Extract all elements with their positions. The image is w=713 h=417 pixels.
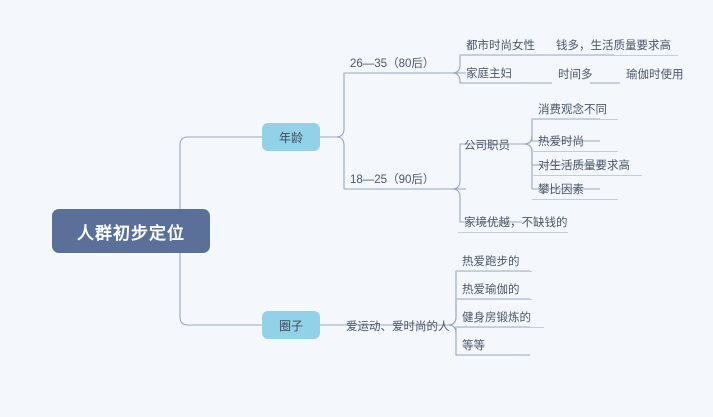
leaf-much-time-label: 时间多 [558, 66, 593, 82]
leaf-etcetera[interactable]: 等等 [456, 334, 516, 356]
leaf-loves-running[interactable]: 热爱跑步的 [456, 250, 532, 272]
leaf-different-consumption-view[interactable]: 消费观念不同 [532, 98, 618, 120]
age-group-80s[interactable]: 26—35（80后） [344, 52, 440, 74]
leaf-gym-exercisers-label: 健身房锻炼的 [462, 309, 531, 325]
leaf-housewife[interactable]: 家庭主妇 [460, 62, 522, 84]
leaf-loves-yoga-label: 热爱瑜伽的 [462, 281, 520, 297]
branch-node-age-label: 年龄 [279, 129, 303, 146]
leaf-company-employee[interactable]: 公司职员 [458, 133, 522, 155]
leaf-rich-high-quality-life-label: 钱多，生活质量要求高 [556, 37, 671, 53]
leaf-much-time[interactable]: 时间多 [552, 62, 600, 84]
leaf-urban-fashion-women[interactable]: 都市时尚女性 [460, 34, 540, 56]
leaf-sports-fashion-lovers-label: 爱运动、爱时尚的人 [346, 318, 450, 334]
branch-node-circle[interactable]: 圈子 [262, 311, 320, 339]
leaf-etcetera-label: 等等 [462, 337, 485, 353]
leaf-use-during-yoga-label: 瑜伽时使用 [626, 66, 684, 82]
leaf-loves-fashion[interactable]: 热爱时尚 [532, 130, 618, 152]
age-group-90s[interactable]: 18—25（90后） [344, 168, 440, 190]
branch-node-age[interactable]: 年龄 [262, 123, 320, 151]
leaf-urban-fashion-women-label: 都市时尚女性 [466, 37, 535, 53]
age-group-80s-label: 26—35（80后） [350, 55, 434, 71]
leaf-housewife-label: 家庭主妇 [466, 65, 512, 81]
leaf-high-life-quality-demand-label: 对生活质量要求高 [538, 157, 630, 173]
leaf-company-employee-label: 公司职员 [464, 137, 510, 153]
leaf-comparison-factor[interactable]: 攀比因素 [532, 178, 618, 200]
leaf-comparison-factor-label: 攀比因素 [538, 181, 584, 197]
branch-node-circle-label: 圈子 [279, 317, 303, 334]
leaf-loves-yoga[interactable]: 热爱瑜伽的 [456, 278, 532, 300]
mindmap-canvas: 人群初步定位 年龄 圈子 26—35（80后） 18—25（90后） 都市时尚女… [0, 0, 713, 417]
age-group-90s-label: 18—25（90后） [350, 171, 434, 187]
leaf-use-during-yoga[interactable]: 瑜伽时使用 [620, 62, 700, 84]
leaf-rich-high-quality-life[interactable]: 钱多，生活质量要求高 [550, 34, 678, 56]
leaf-different-consumption-view-label: 消费观念不同 [538, 101, 607, 117]
leaf-wealthy-family[interactable]: 家境优越，不缺钱的 [458, 211, 568, 233]
root-node[interactable]: 人群初步定位 [52, 209, 210, 253]
leaf-wealthy-family-label: 家境优越，不缺钱的 [464, 214, 568, 230]
leaf-loves-fashion-label: 热爱时尚 [538, 133, 584, 149]
leaf-high-life-quality-demand[interactable]: 对生活质量要求高 [532, 154, 642, 176]
root-node-label: 人群初步定位 [77, 219, 185, 244]
leaf-sports-fashion-lovers[interactable]: 爱运动、爱时尚的人 [340, 314, 450, 336]
leaf-gym-exercisers[interactable]: 健身房锻炼的 [456, 306, 544, 328]
leaf-loves-running-label: 热爱跑步的 [462, 253, 520, 269]
